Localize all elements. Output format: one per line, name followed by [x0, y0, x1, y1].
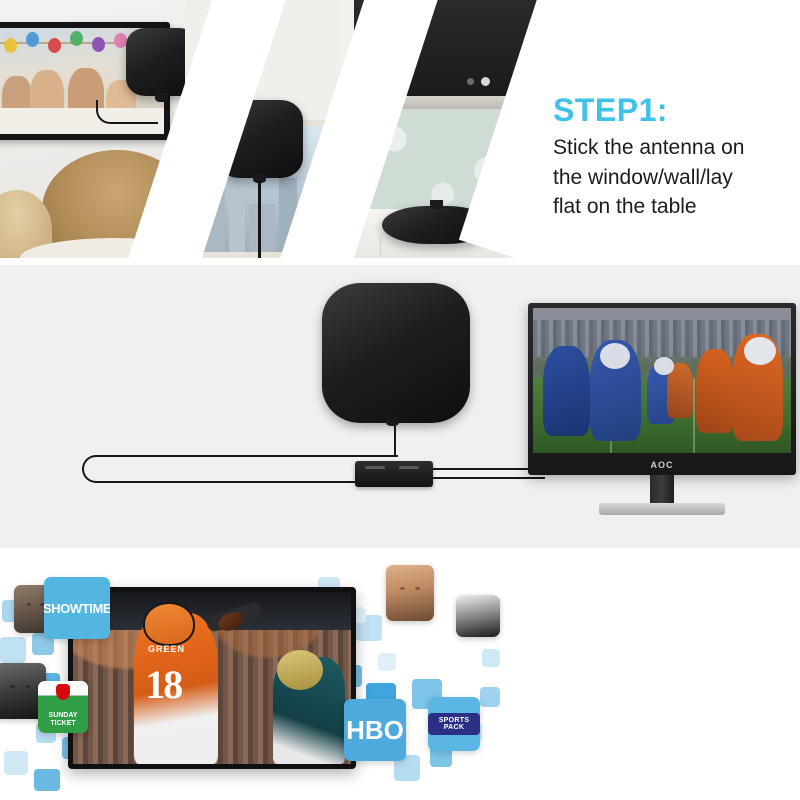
- balloon-icon: [26, 32, 39, 47]
- balloon-icon: [92, 37, 105, 52]
- portrait-actress-3: [386, 565, 434, 621]
- hood-lamp-icon: [481, 77, 490, 86]
- balloon-icon: [70, 31, 83, 46]
- hbo-tile[interactable]: HBO: [344, 699, 406, 761]
- helmet-icon: [600, 343, 630, 369]
- nfl-shield-icon: [56, 684, 70, 700]
- signal-amplifier-box: [355, 461, 433, 487]
- sports-pack-logo: SPORTS PACK: [428, 713, 480, 736]
- player-orange: [696, 349, 735, 433]
- antenna-cable: [96, 100, 158, 124]
- portrait-image: [456, 595, 500, 637]
- helmet-icon: [744, 337, 776, 365]
- portrait-bw-4: [456, 595, 500, 637]
- infographic-page: STEP1: Stick the antenna on the window/w…: [0, 0, 800, 800]
- tv-screen-football: GREEN 18: [73, 592, 351, 764]
- hood-knob-icon: [467, 78, 474, 85]
- cabinet-seam: [380, 236, 381, 258]
- mosaic-square: [480, 687, 500, 707]
- antenna-cable-nub: [430, 200, 443, 209]
- showtime-tile[interactable]: SHOWTIME: [44, 577, 110, 639]
- jersey-name: GREEN: [148, 644, 185, 654]
- yard-line: [693, 378, 695, 453]
- antenna-cable-stub: [394, 423, 396, 457]
- antenna-cable-drop: [258, 180, 261, 258]
- balloon-icon: [4, 38, 17, 53]
- antenna-product: [322, 283, 470, 423]
- portrait-image: [386, 565, 434, 621]
- antenna-cable-loop: [82, 455, 398, 483]
- building: [249, 204, 275, 252]
- step1-title: STEP1:: [553, 92, 791, 129]
- step1-line-1: Stick the antenna on: [553, 133, 791, 163]
- receiver-helmet-icon: [143, 602, 195, 646]
- monitor-screen: [533, 308, 791, 453]
- amplifier-label-icon: [399, 466, 419, 469]
- showtime-logo: SHOWTIME: [44, 601, 110, 616]
- sunday-ticket-logo: SUNDAY TICKET: [38, 681, 88, 733]
- mosaic-square: [482, 649, 500, 667]
- sunday-ticket-label: SUNDAY TICKET: [38, 712, 88, 727]
- monitor-stand-base: [599, 503, 725, 515]
- step3-section: SHOWTIME SUNDAY TICKET GREEN 18: [0, 555, 800, 800]
- step1-line-3: flat on the table: [553, 192, 791, 222]
- antenna-cable-nub: [386, 417, 399, 426]
- step1-line-2: the window/wall/lay: [553, 163, 791, 193]
- hbo-logo: HBO: [346, 715, 404, 746]
- monitor-brand-logo: AOC: [651, 460, 674, 470]
- amplifier-label-icon: [365, 466, 385, 469]
- mosaic-square: [34, 769, 60, 791]
- mosaic-square: [4, 751, 28, 775]
- monitor-bezel: AOC: [528, 303, 796, 475]
- step2-section: STEP2: Connect the antenna to HDTV's wit…: [0, 265, 800, 548]
- aoc-monitor: AOC: [528, 303, 796, 513]
- balloon-icon: [48, 38, 61, 53]
- step1-text-block: STEP1: Stick the antenna on the window/w…: [553, 92, 791, 222]
- jersey-number: 18: [145, 661, 181, 708]
- mosaic-square: [0, 637, 26, 663]
- nfl-sunday-ticket-tile[interactable]: SUNDAY TICKET: [38, 681, 88, 733]
- sports-pack-tile[interactable]: SPORTS PACK: [428, 697, 480, 751]
- player-blue: [543, 346, 589, 436]
- step1-section: STEP1: Stick the antenna on the window/w…: [0, 0, 800, 258]
- living-room-tv: GREEN 18: [68, 587, 356, 769]
- mosaic-square: [378, 653, 396, 671]
